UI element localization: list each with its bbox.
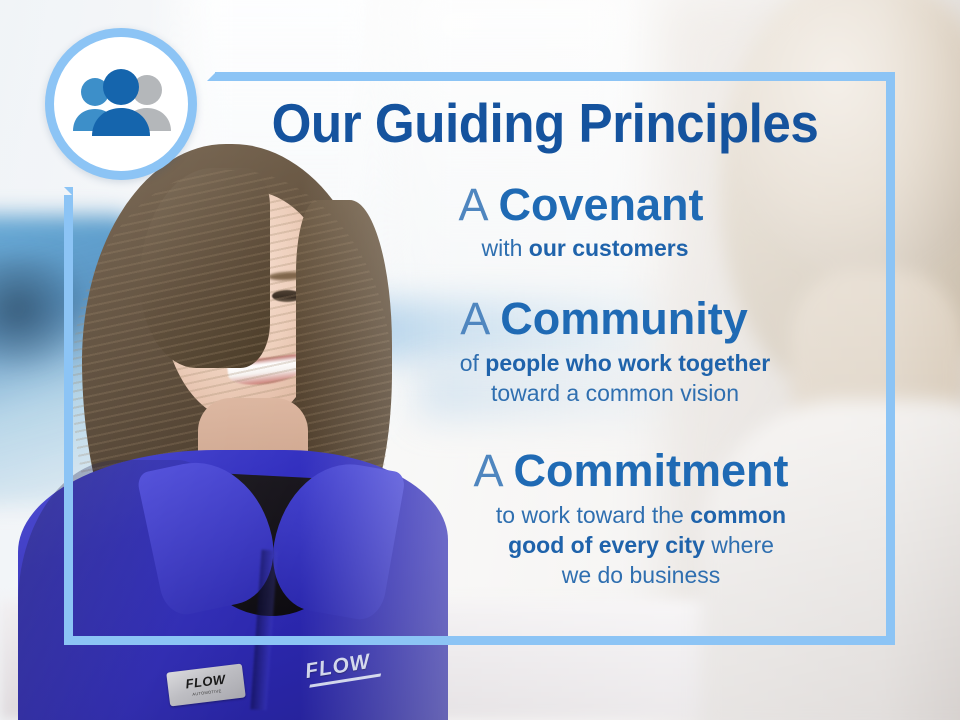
principle-description: with our customers	[290, 234, 880, 264]
principle-description: to work toward the common good of every …	[402, 501, 880, 591]
desc-segment: where	[705, 532, 774, 558]
principle-community: ACommunity of people who work together t…	[328, 294, 880, 408]
desc-segment-strong: good of every city	[508, 532, 705, 558]
principle-article: A	[473, 445, 503, 496]
desc-segment-strong: our customers	[529, 235, 689, 261]
description-line: toward a common vision	[350, 379, 880, 409]
page-title: Our Guiding Principles	[238, 95, 852, 153]
people-group-icon	[67, 67, 175, 141]
principle-word: Commitment	[514, 445, 789, 496]
desc-segment: of	[460, 350, 486, 376]
principle-heading: ACommitment	[382, 446, 880, 496]
principles-list: ACovenant with our customers ACommunity …	[300, 180, 880, 613]
people-group-badge	[45, 28, 197, 180]
principle-article: A	[458, 179, 488, 230]
desc-segment: with	[481, 235, 528, 261]
principle-covenant: ACovenant with our customers	[282, 180, 880, 264]
desc-segment-strong: people who work together	[485, 350, 770, 376]
principle-article: A	[460, 293, 490, 344]
principle-description: of people who work together toward a com…	[350, 349, 880, 409]
principle-word: Community	[500, 293, 748, 344]
description-line: to work toward the common	[402, 501, 880, 531]
guiding-principles-graphic: FLOW AUTOMOTIVE FLOW	[0, 0, 960, 720]
description-line: with our customers	[290, 234, 880, 264]
description-line: good of every city where	[402, 531, 880, 561]
desc-segment: we do business	[562, 562, 721, 588]
desc-segment-strong: common	[690, 502, 786, 528]
principle-heading: ACovenant	[282, 180, 880, 230]
desc-segment: toward a common vision	[491, 380, 739, 406]
description-line: we do business	[402, 561, 880, 591]
description-line: of people who work together	[350, 349, 880, 379]
principle-heading: ACommunity	[328, 294, 880, 344]
principle-word: Covenant	[498, 179, 703, 230]
desc-segment: to work toward the	[496, 502, 690, 528]
principle-commitment: ACommitment to work toward the common go…	[382, 446, 880, 590]
